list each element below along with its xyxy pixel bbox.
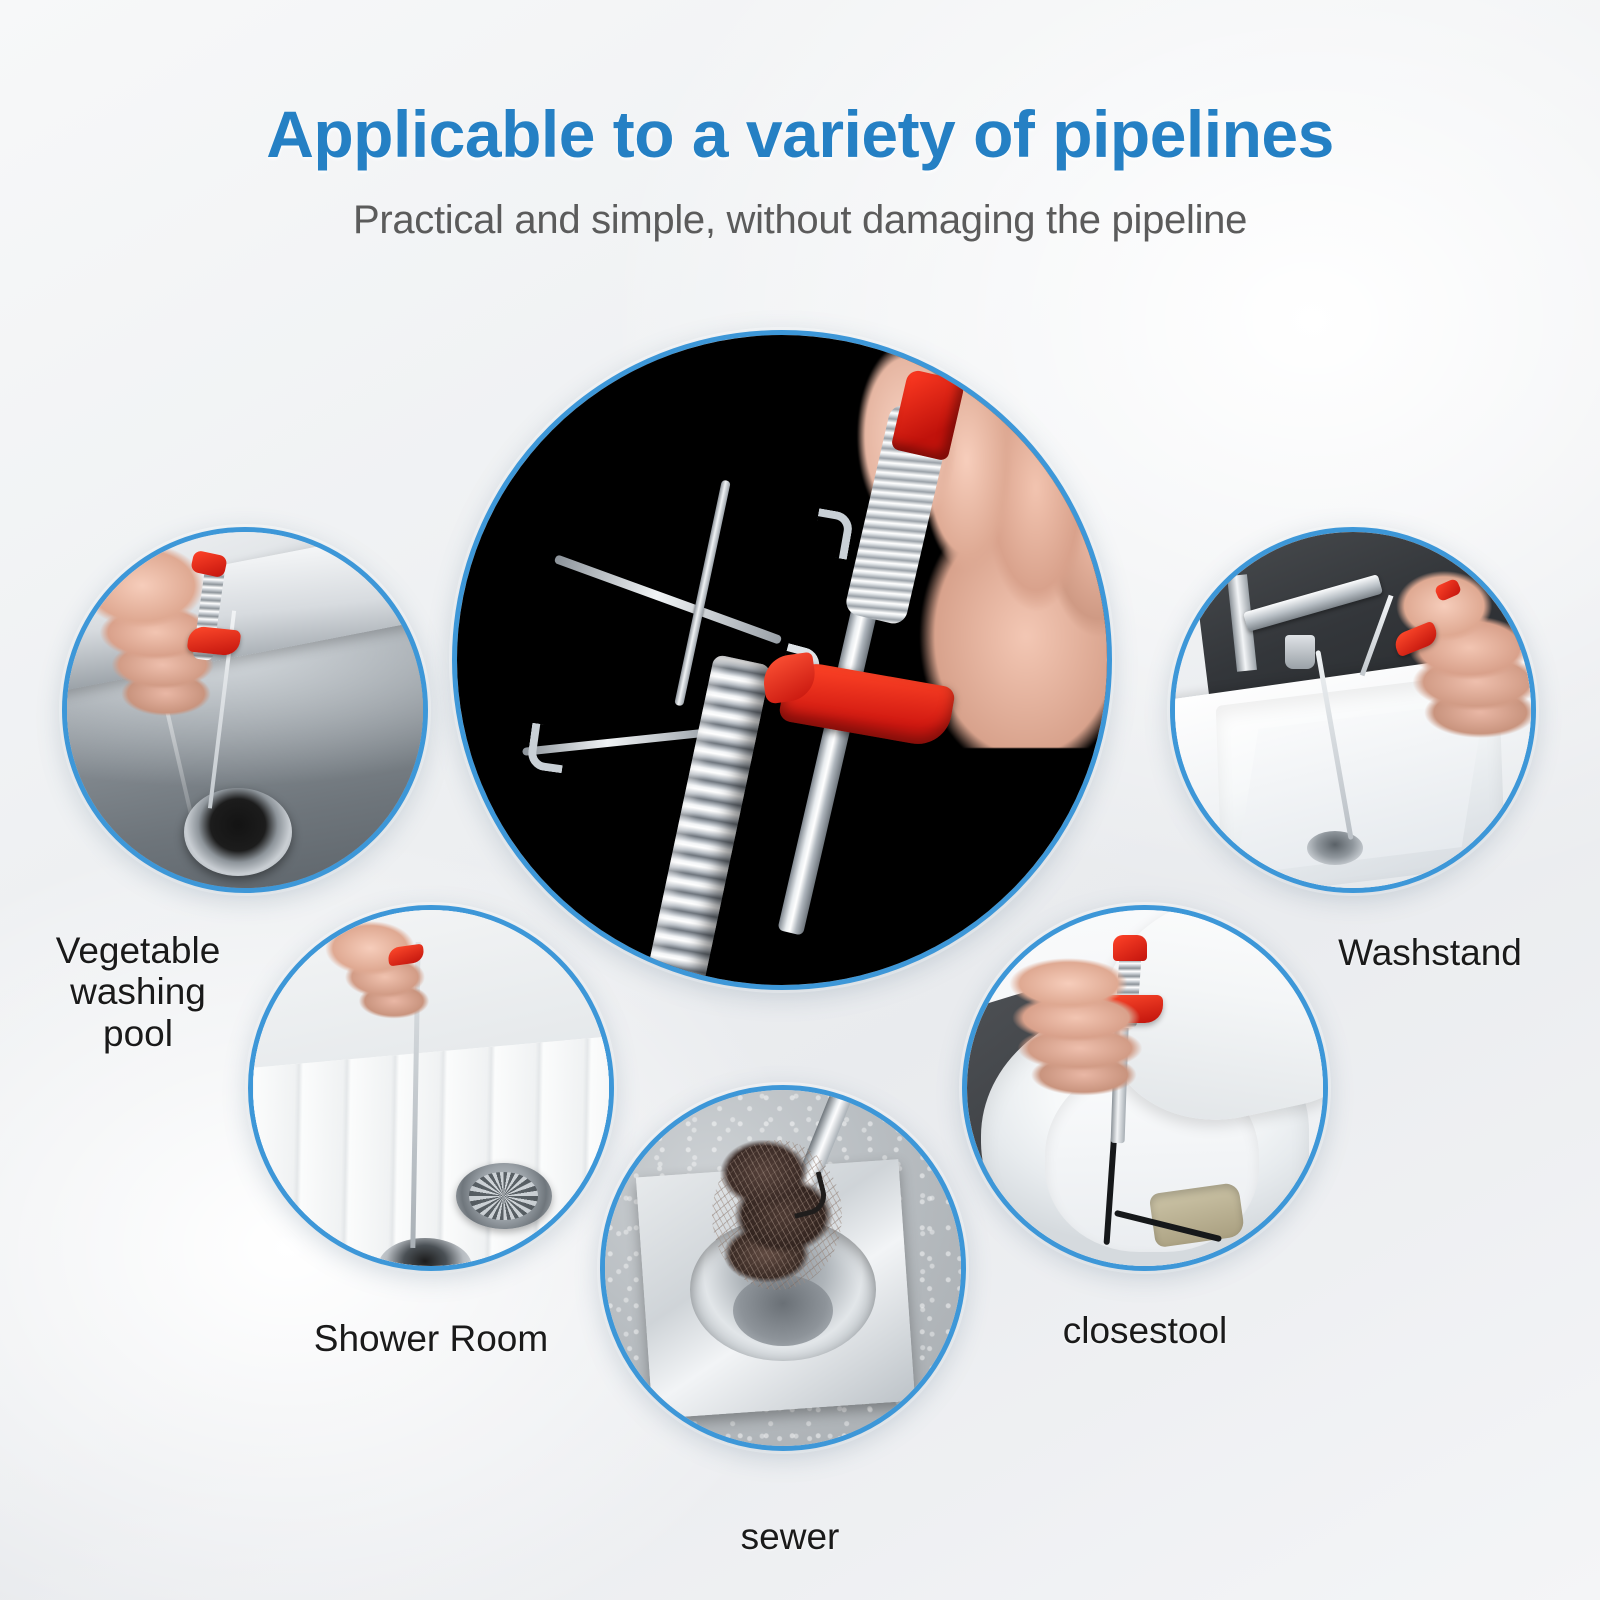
panel-washstand[interactable] — [1170, 527, 1536, 893]
label-washstand: Washstand — [1280, 932, 1580, 973]
page-subtitle: Practical and simple, without damaging t… — [0, 198, 1600, 243]
label-sewer: sewer — [625, 1516, 955, 1557]
panel-product-closeup[interactable] — [452, 330, 1112, 990]
label-closestool: closestool — [980, 1310, 1310, 1351]
floor-drain-icon — [605, 1090, 961, 1446]
label-vegetable-washing-pool: Vegetable washing pool — [0, 930, 276, 1054]
label-shower-room: Shower Room — [266, 1318, 596, 1359]
panel-sewer[interactable] — [600, 1085, 966, 1451]
kitchen-sink-icon — [67, 532, 423, 888]
washbasin-icon — [1175, 532, 1531, 888]
header: Applicable to a variety of pipelines Pra… — [0, 0, 1600, 243]
panel-vegetable-washing-pool[interactable] — [62, 527, 428, 893]
page-title: Applicable to a variety of pipelines — [0, 96, 1600, 172]
drain-cleaning-tool-icon — [457, 335, 1107, 985]
